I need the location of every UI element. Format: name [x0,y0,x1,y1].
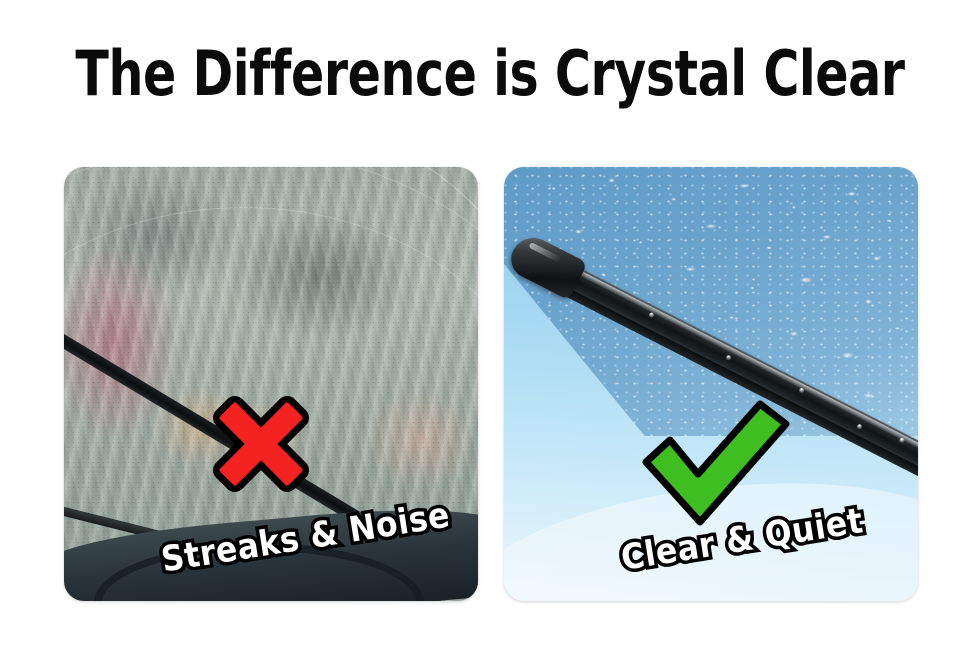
page-title: The Difference is Crystal Clear [59,42,921,106]
x-mark-icon [195,378,327,510]
poster-canvas: The Difference is Crystal Clear [0,0,980,665]
check-mark-icon [640,400,790,528]
